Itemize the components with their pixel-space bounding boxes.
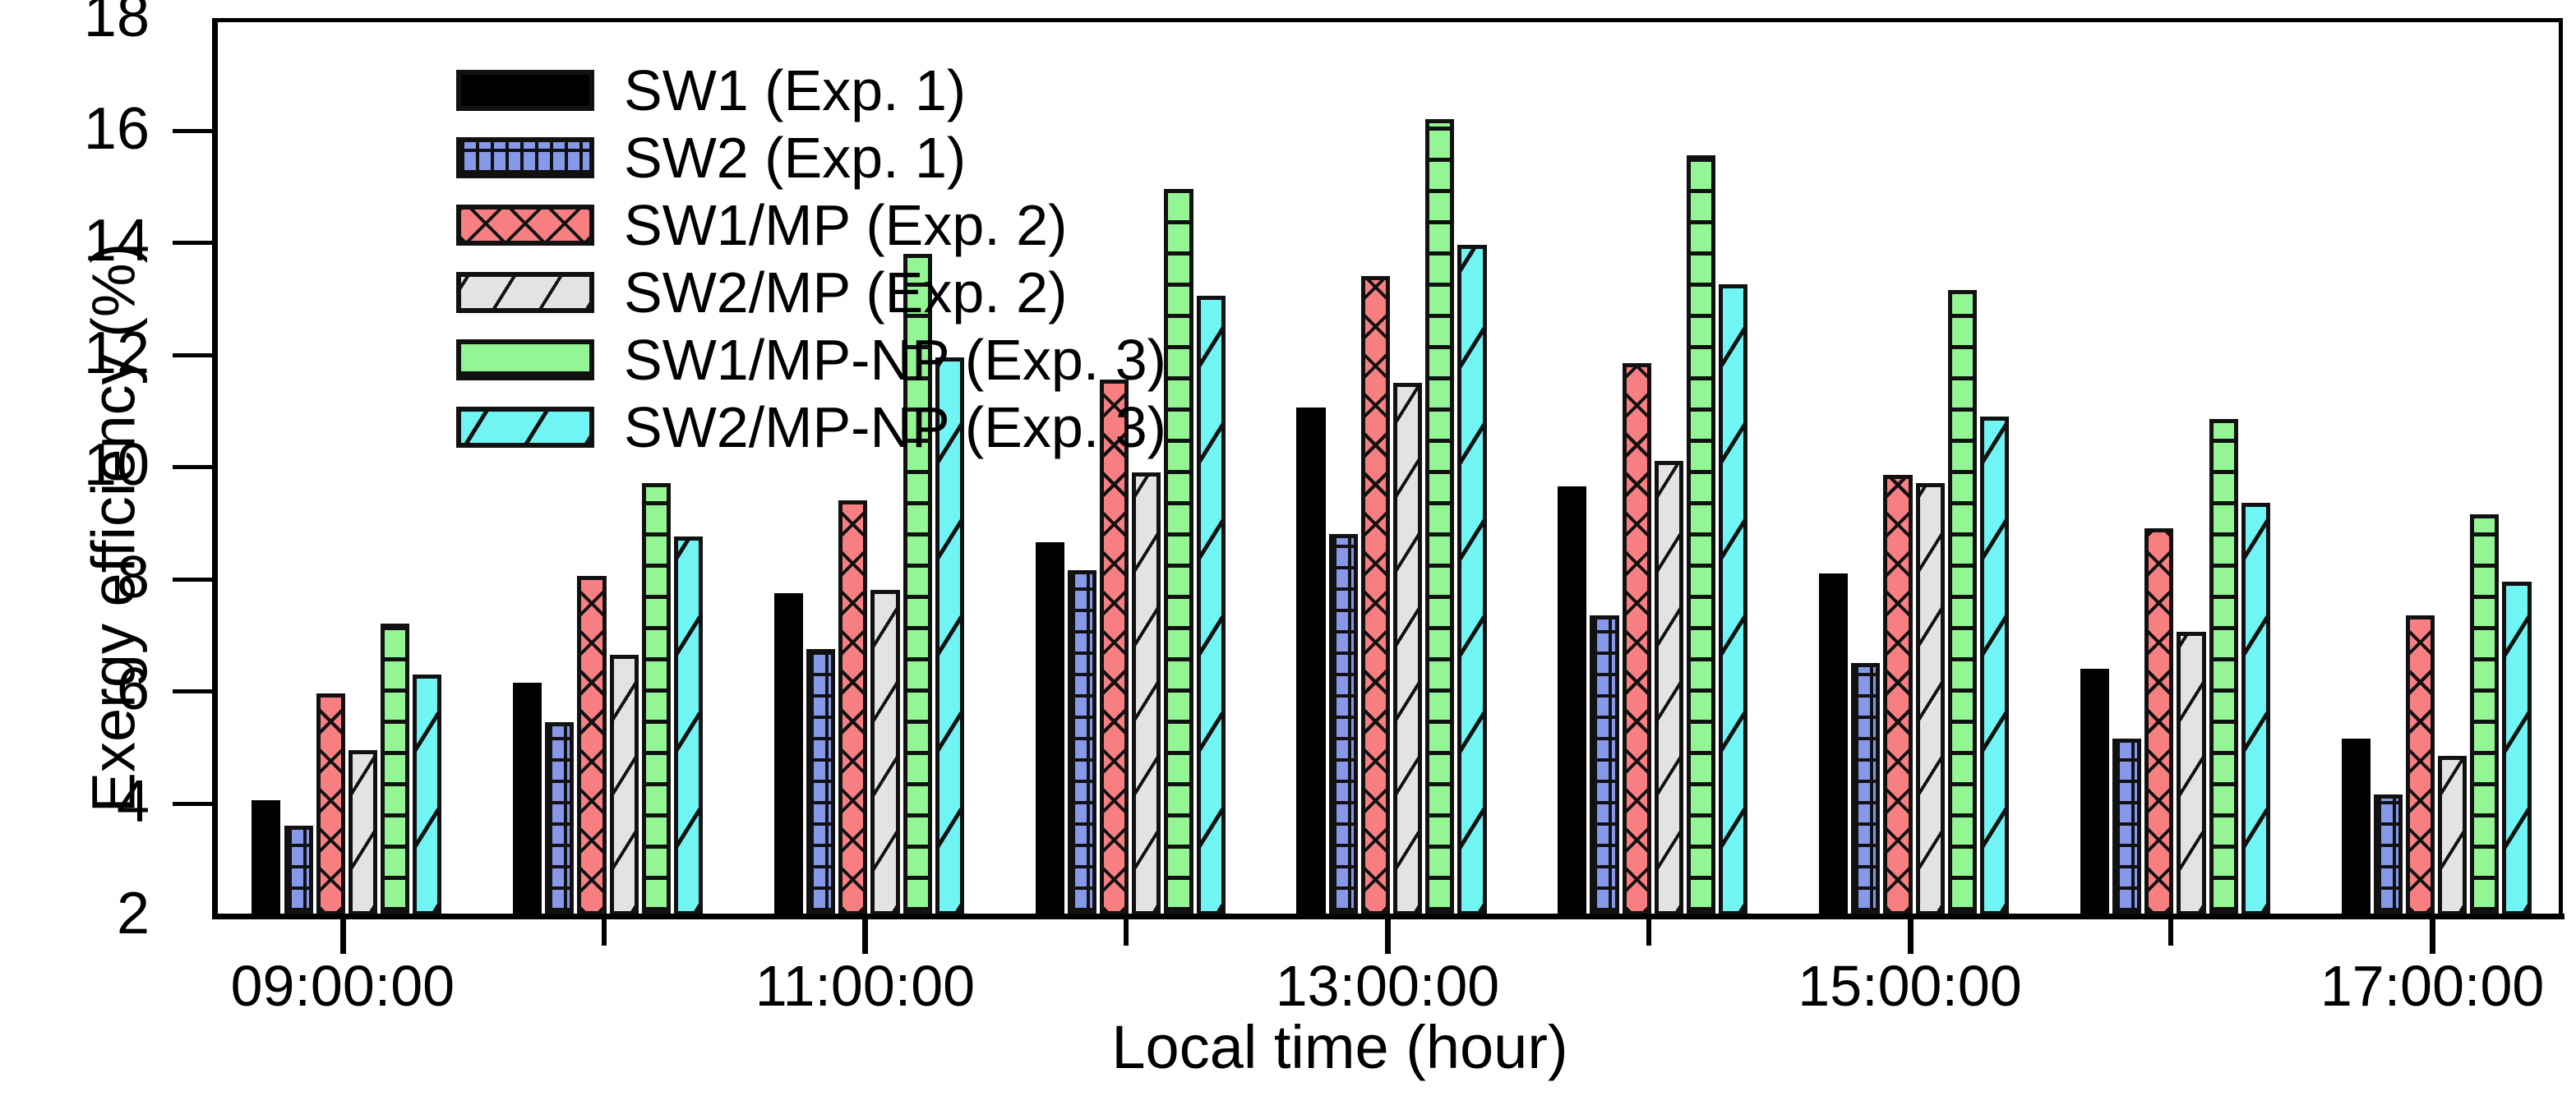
legend-swatch-icon	[456, 70, 594, 111]
y-axis-tick-label: 10	[0, 435, 150, 495]
bar	[1851, 663, 1880, 915]
legend-item-5: SW1/MP-NP (Exp. 3)	[456, 326, 1166, 394]
bar	[2177, 632, 2205, 915]
x-axis-tick-label: 13:00:00	[1215, 953, 1560, 1019]
legend-label: SW2/MP-NP (Exp. 3)	[624, 398, 1166, 456]
y-axis-tick-label: 18	[0, 0, 150, 46]
x-axis-minor-tick	[2168, 918, 2173, 946]
bar	[1393, 383, 1422, 915]
bar	[1655, 461, 1683, 915]
legend-item-1: SW1 (Exp. 1)	[456, 57, 1166, 124]
y-axis-tick-label: 16	[0, 99, 150, 159]
bar	[2342, 739, 2371, 915]
bar	[610, 655, 639, 915]
bar	[284, 826, 313, 915]
legend-label: SW2 (Exp. 1)	[624, 129, 966, 186]
bar	[2406, 615, 2435, 915]
bar	[774, 593, 803, 915]
bar	[642, 483, 671, 915]
bar	[2209, 419, 2238, 915]
bar	[1329, 534, 1358, 915]
x-axis-major-tick	[1908, 918, 1914, 954]
y-axis-title: Exergy efficiency (%)	[79, 200, 149, 857]
x-axis-tick-label: 17:00:00	[2260, 953, 2576, 1019]
x-axis-major-tick	[862, 918, 868, 954]
chart-legend: SW1 (Exp. 1)SW2 (Exp. 1)SW1/MP (Exp. 2)S…	[456, 57, 1166, 461]
exergy-efficiency-bar-chart: Exergy efficiency (%) Local time (hour) …	[0, 0, 2576, 1119]
bar	[1197, 296, 1226, 915]
x-axis-major-tick	[1385, 918, 1391, 954]
bar	[1164, 189, 1193, 915]
bar	[316, 693, 345, 915]
bar	[252, 800, 280, 915]
legend-swatch-icon	[456, 137, 594, 178]
bar	[1457, 245, 1486, 915]
y-axis-tick	[173, 465, 212, 469]
y-axis-tick	[173, 129, 212, 133]
legend-label: SW2/MP (Exp. 2)	[624, 264, 1067, 321]
legend-item-6: SW2/MP-NP (Exp. 3)	[456, 394, 1166, 461]
bar	[838, 500, 867, 915]
legend-item-4: SW2/MP (Exp. 2)	[456, 259, 1166, 326]
y-axis-tick-label: 2	[0, 884, 150, 943]
x-axis-minor-tick	[1124, 918, 1129, 946]
bar	[870, 590, 899, 915]
bar	[1948, 290, 1977, 915]
bar	[1296, 408, 1325, 915]
y-axis-tick	[173, 578, 212, 582]
y-axis-tick	[173, 241, 212, 245]
x-axis-tick-label: 11:00:00	[692, 953, 1037, 1019]
bar	[2374, 794, 2403, 915]
bar	[2470, 514, 2499, 915]
x-axis-major-tick	[340, 918, 346, 954]
bar	[2438, 756, 2467, 916]
bar	[545, 722, 574, 915]
bar	[1036, 542, 1064, 915]
bar	[1590, 615, 1618, 915]
bar	[806, 649, 835, 915]
plot-area: SW1 (Exp. 1)SW2 (Exp. 1)SW1/MP (Exp. 2)S…	[212, 18, 2563, 915]
x-axis-tick-label: 09:00:00	[170, 953, 515, 1019]
bar	[1819, 573, 1848, 915]
bar	[381, 624, 409, 915]
bar	[1623, 363, 1651, 915]
legend-label: SW1/MP-NP (Exp. 3)	[624, 331, 1166, 389]
y-axis-tick	[173, 802, 212, 806]
legend-label: SW1/MP (Exp. 2)	[624, 196, 1067, 254]
bar	[674, 536, 703, 915]
x-axis-tick-label: 15:00:00	[1738, 953, 2083, 1019]
bar	[577, 576, 606, 915]
x-axis-title: Local time (hour)	[970, 1012, 1710, 1082]
legend-item-3: SW1/MP (Exp. 2)	[456, 191, 1166, 259]
y-axis-tick-label: 14	[0, 211, 150, 270]
bar	[1883, 475, 1912, 915]
legend-swatch-icon	[456, 205, 594, 246]
x-axis-minor-tick	[1646, 918, 1651, 946]
x-axis-minor-tick	[602, 918, 607, 946]
y-axis-tick-label: 6	[0, 660, 150, 719]
bar	[349, 750, 377, 915]
bar	[413, 675, 441, 915]
bar	[2080, 669, 2109, 915]
bar	[2241, 503, 2270, 915]
y-axis-tick	[173, 689, 212, 693]
y-axis-tick-label: 4	[0, 772, 150, 831]
bar	[1719, 284, 1747, 915]
y-axis-tick-label: 12	[0, 324, 150, 383]
bar	[1558, 486, 1586, 915]
bar	[1132, 472, 1161, 915]
bar	[2502, 582, 2531, 915]
legend-label: SW1 (Exp. 1)	[624, 62, 966, 119]
bar	[1687, 155, 1715, 915]
y-axis-tick	[173, 353, 212, 357]
bar	[1916, 483, 1945, 915]
y-axis-tick-label: 8	[0, 548, 150, 607]
x-axis-major-tick	[2430, 918, 2435, 954]
bar	[2144, 528, 2173, 915]
legend-swatch-icon	[456, 272, 594, 313]
bar	[2112, 739, 2141, 915]
legend-swatch-icon	[456, 407, 594, 448]
bar	[1425, 119, 1454, 915]
bar	[1361, 276, 1390, 915]
legend-item-2: SW2 (Exp. 1)	[456, 124, 1166, 191]
bar	[1068, 570, 1096, 915]
legend-swatch-icon	[456, 339, 594, 380]
bar	[1980, 417, 2009, 915]
bar	[513, 683, 542, 915]
